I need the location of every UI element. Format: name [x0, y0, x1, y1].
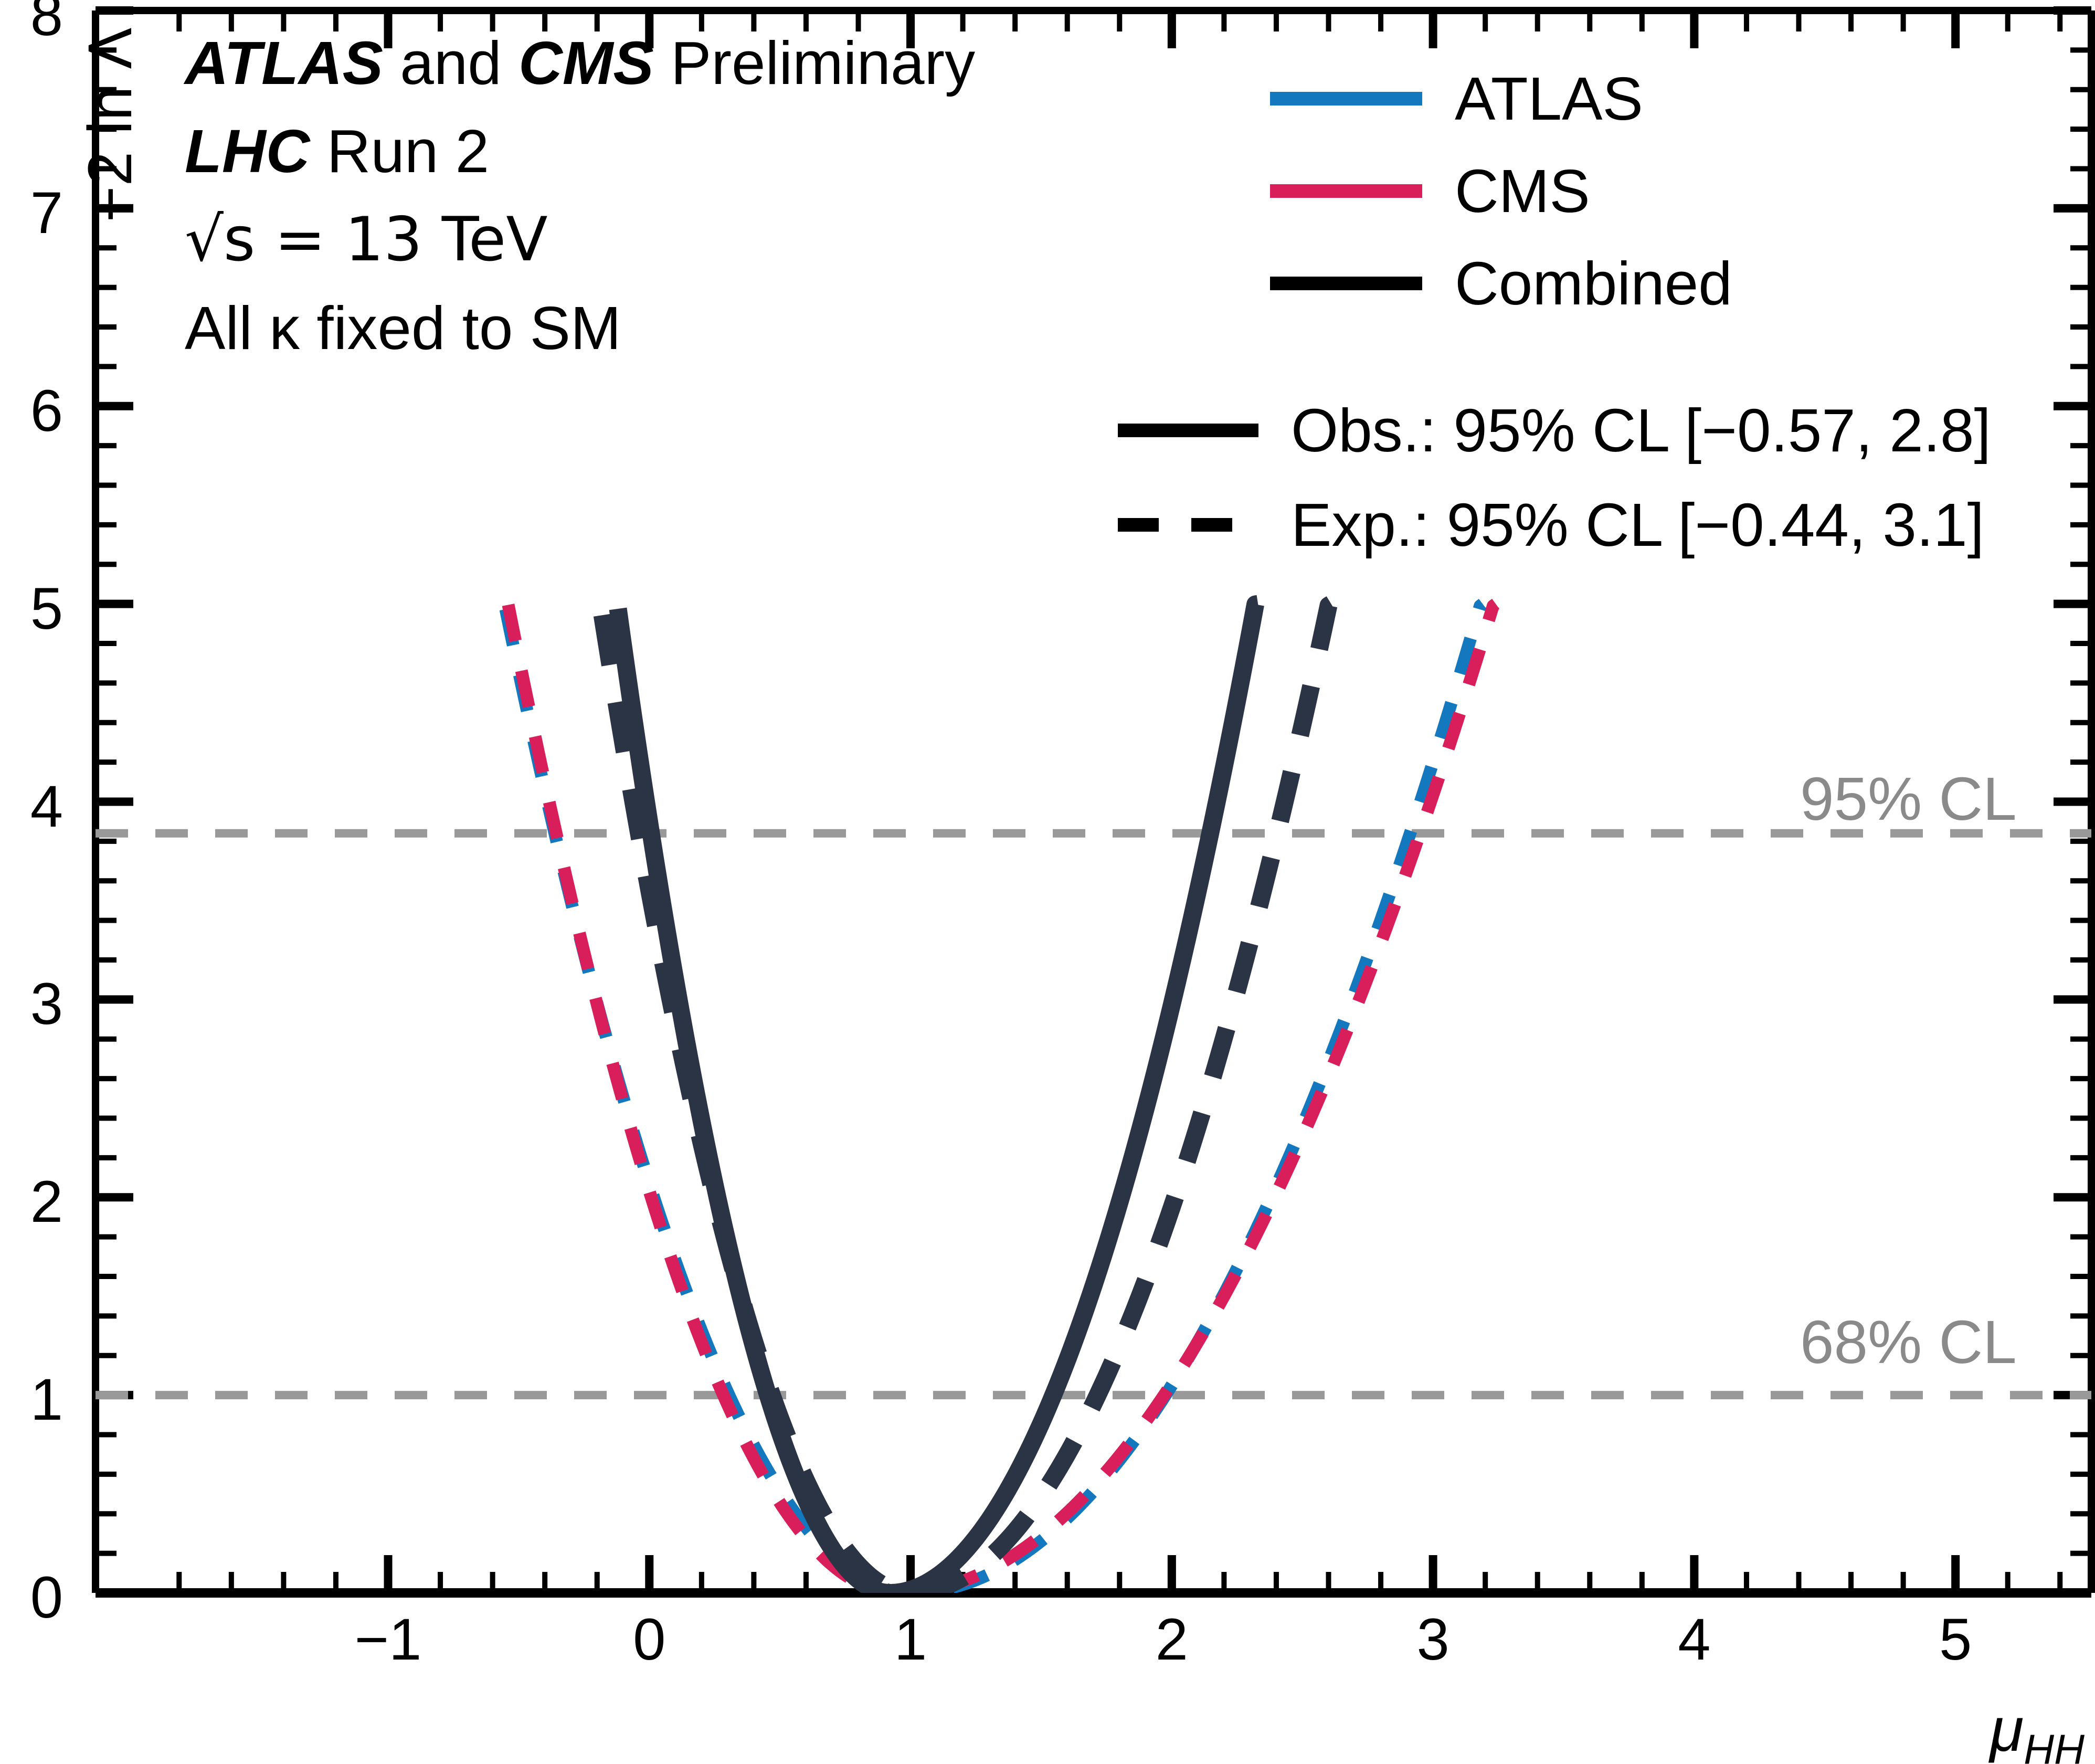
annotation-line-1: ATLAS and CMS Preliminary — [185, 33, 975, 93]
legend-item-observed[interactable]: Obs.: 95% CL [−0.57, 2.8] — [1118, 383, 1991, 478]
legend-item-label: Combined — [1455, 248, 1732, 319]
cl-95-label: 95% CL — [1800, 764, 2017, 834]
chart-root: −2 ln Λ μHH 012345678 −1012345 ATLAS and… — [0, 0, 2095, 1764]
annotation-line-4: All κ fixed to SM — [185, 298, 975, 358]
annotation-preliminary: Preliminary — [654, 29, 975, 97]
sqrt-s-energy: √s = 13 TeV — [185, 204, 548, 275]
curve-combined-obs — [618, 604, 1258, 1593]
curve-cms — [508, 604, 1496, 1593]
atlas-wordmark: ATLAS — [185, 29, 383, 97]
x-tick-label: 3 — [1355, 1605, 1512, 1673]
legend-line-swatch — [1270, 277, 1422, 290]
y-tick-label: 4 — [0, 773, 63, 840]
kappa-fixed-note: All κ fixed to SM — [185, 294, 621, 362]
y-tick-label: 6 — [0, 377, 63, 445]
legend-item-label: CMS — [1455, 156, 1590, 226]
experiment-legend: ATLASCMSCombined — [1270, 52, 1732, 330]
y-tick-label: 8 — [0, 0, 63, 49]
x-tick-label: 0 — [570, 1605, 728, 1673]
x-tick-label: 5 — [1877, 1605, 2034, 1673]
legend-item-expected[interactable]: Exp.: 95% CL [−0.44, 3.1] — [1118, 478, 1991, 572]
legend-item-atlas[interactable]: ATLAS — [1270, 52, 1732, 145]
x-tick-label: −1 — [310, 1605, 467, 1673]
legend-item-cms[interactable]: CMS — [1270, 145, 1732, 237]
legend-item-label: ATLAS — [1455, 64, 1643, 134]
cms-wordmark: CMS — [519, 29, 654, 97]
x-tick-label: 4 — [1615, 1605, 1773, 1673]
annotation-block: ATLAS and CMS Preliminary LHC Run 2 √s =… — [185, 33, 975, 386]
obs-exp-legend: Obs.: 95% CL [−0.57, 2.8]Exp.: 95% CL [−… — [1118, 383, 1991, 572]
legend-line-swatch — [1270, 184, 1422, 198]
y-tick-label: 1 — [0, 1366, 63, 1433]
annotation-line-2: LHC Run 2 — [185, 121, 975, 182]
y-tick-label: 5 — [0, 575, 63, 642]
cl-68-label: 68% CL — [1800, 1307, 2017, 1377]
legend-item-combined[interactable]: Combined — [1270, 237, 1732, 330]
x-tick-label: 2 — [1093, 1605, 1251, 1673]
data-curves — [506, 604, 1496, 1593]
curve-atlas — [506, 604, 1483, 1593]
lhc-wordmark: LHC — [185, 117, 310, 185]
legend-line-swatch — [1118, 424, 1258, 437]
annotation-and: and — [383, 29, 519, 97]
x-tick-label: 1 — [832, 1605, 989, 1673]
y-tick-label: 2 — [0, 1168, 63, 1235]
legend-line-swatch — [1270, 92, 1422, 105]
y-tick-label: 7 — [0, 179, 63, 247]
legend-line-swatch — [1118, 518, 1258, 532]
annotation-line-3: √s = 13 TeV — [185, 209, 975, 270]
legend-item-label: Obs.: 95% CL [−0.57, 2.8] — [1291, 395, 1991, 466]
y-tick-label: 0 — [0, 1564, 63, 1631]
annotation-run2: Run 2 — [310, 117, 489, 185]
legend-item-label: Exp.: 95% CL [−0.44, 3.1] — [1291, 490, 1984, 560]
y-tick-label: 3 — [0, 970, 63, 1038]
